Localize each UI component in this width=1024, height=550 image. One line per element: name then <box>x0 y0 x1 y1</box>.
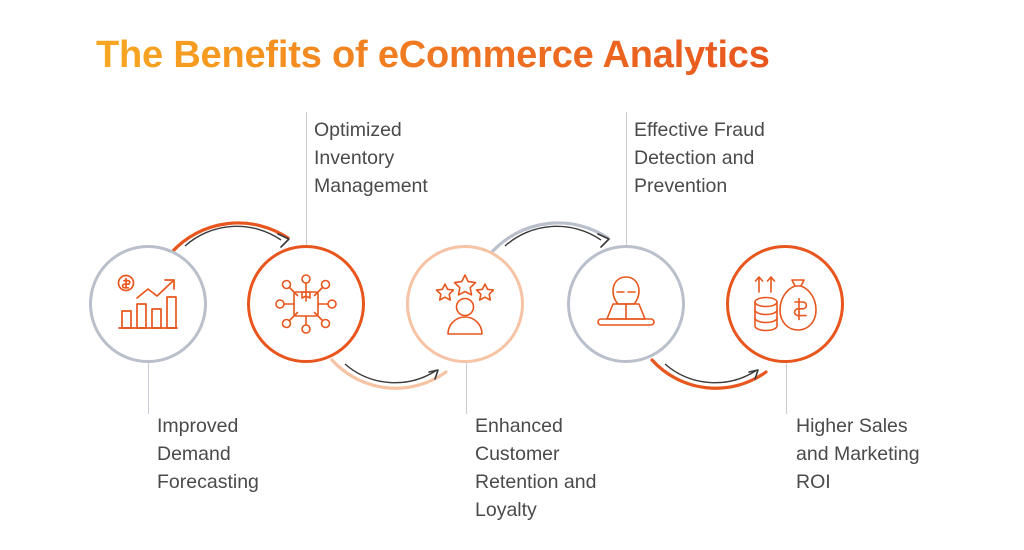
label-optimized-inventory-management: Optimized Inventory Management <box>314 116 494 200</box>
inventory-network-box-icon <box>250 248 362 360</box>
label-enhanced-customer-retention: Enhanced Customer Retention and Loyalty <box>475 412 675 524</box>
bar-chart-growth-dollar-icon <box>92 248 204 360</box>
leader-line-optimized-inventory <box>306 112 307 262</box>
page-title: The Benefits of eCommerce Analytics <box>96 34 770 77</box>
label-improved-demand-forecasting: Improved Demand Forecasting <box>157 412 347 496</box>
leader-line-effective-fraud <box>626 112 627 264</box>
node-improved-demand-forecasting[interactable] <box>89 245 207 363</box>
node-enhanced-customer-retention[interactable] <box>406 245 524 363</box>
label-effective-fraud-detection: Effective Fraud Detection and Prevention <box>634 116 834 200</box>
node-effective-fraud-detection[interactable] <box>567 245 685 363</box>
customer-rating-stars-icon <box>409 248 521 360</box>
node-optimized-inventory-management[interactable] <box>247 245 365 363</box>
infographic-page: The Benefits of eCommerce Analytics <box>0 0 1024 550</box>
arc-effective-to-higher <box>652 360 766 388</box>
label-higher-sales-marketing-roi: Higher Sales and Marketing ROI <box>796 412 1006 496</box>
node-higher-sales-marketing-roi[interactable] <box>726 245 844 363</box>
coins-money-bag-growth-icon <box>729 248 841 360</box>
arc-optimized-to-enhanced <box>332 360 446 388</box>
hacker-laptop-fraud-icon <box>570 248 682 360</box>
